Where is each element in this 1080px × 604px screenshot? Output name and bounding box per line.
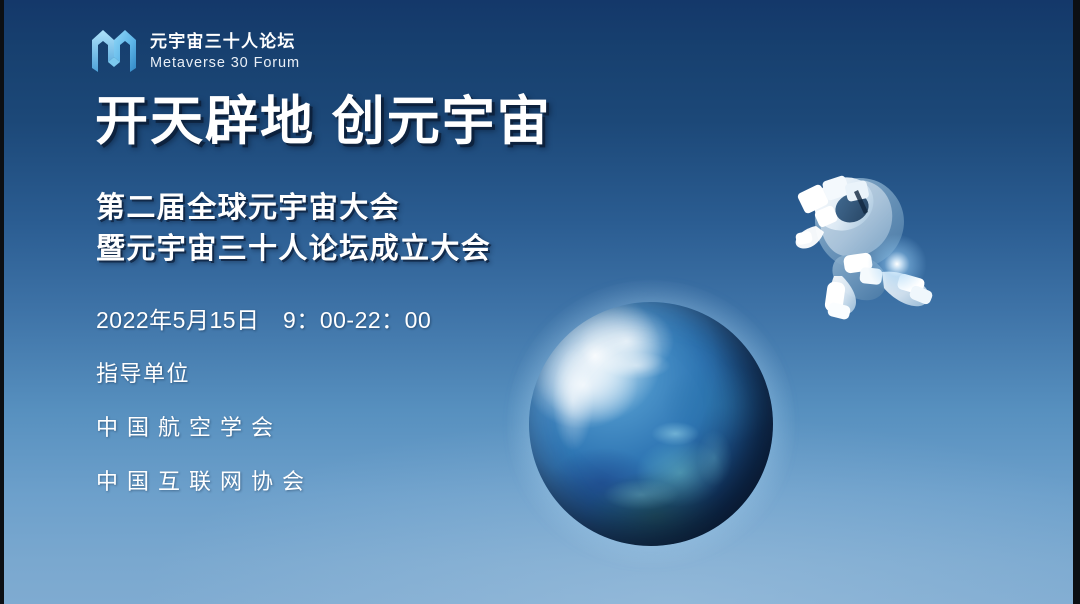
logo-name-en: Metaverse 30 Forum [150, 54, 300, 72]
poster-main-title: 开天辟地 创元宇宙 [95, 92, 552, 153]
right-edge-bar [1073, 0, 1080, 604]
earth-sphere [529, 302, 773, 546]
logo-text-group: 元宇宙三十人论坛 Metaverse 30 Forum [150, 30, 300, 72]
logo-name-cn: 元宇宙三十人论坛 [150, 32, 300, 52]
earth-terminator-shadow [529, 302, 773, 546]
organization-2: 中国互联网协会 [96, 464, 431, 496]
forum-logo: 元宇宙三十人论坛 Metaverse 30 Forum [90, 28, 300, 74]
metaverse-m-logo-icon [90, 28, 138, 74]
organization-1: 中国航空学会 [96, 410, 431, 442]
event-info-block: 2022年5月15日 9：00-22：00 指导单位 中国航空学会 中国互联网协… [96, 308, 431, 496]
guidance-label: 指导单位 [96, 356, 431, 388]
subtitle-line-2: 暨元宇宙三十人论坛成立大会 [96, 229, 491, 270]
astronaut-figure [772, 160, 947, 325]
event-poster: 元宇宙三十人论坛 Metaverse 30 Forum 开天辟地 创元宇宙 第二… [0, 0, 1080, 604]
earth-globe [529, 302, 773, 546]
event-date-time: 2022年5月15日 9：00-22：00 [96, 308, 431, 333]
poster-subtitle: 第二届全球元宇宙大会 暨元宇宙三十人论坛成立大会 [96, 188, 491, 270]
subtitle-line-1: 第二届全球元宇宙大会 [96, 188, 491, 229]
left-edge-bar [0, 0, 4, 604]
